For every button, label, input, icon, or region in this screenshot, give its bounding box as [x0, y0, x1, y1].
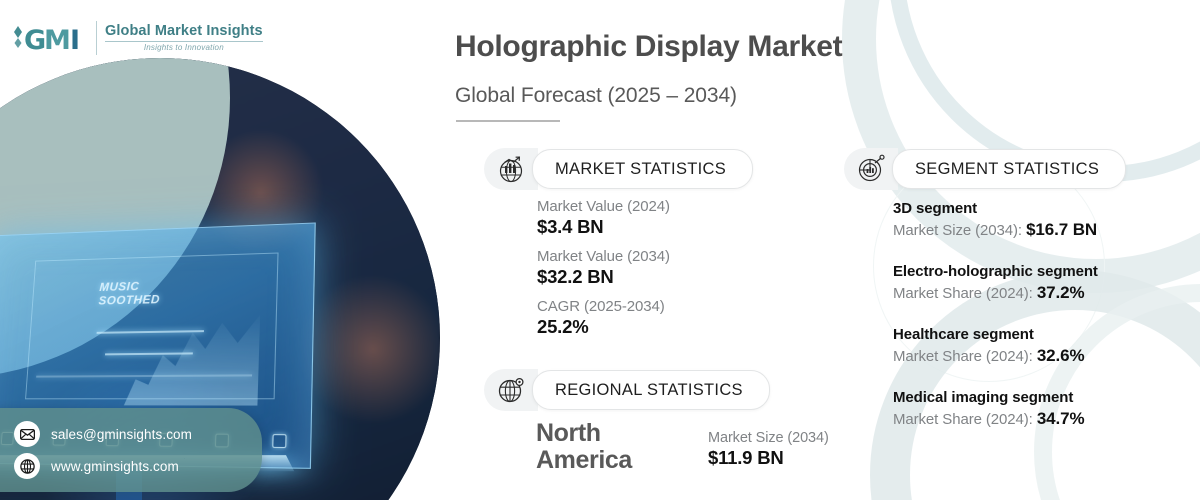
- segment-statistics-list: 3D segment Market Size (2034): $16.7 BN …: [893, 200, 1193, 452]
- logo-divider: [96, 21, 97, 55]
- market-stat-item: Market Value (2024) $3.4 BN: [537, 198, 670, 238]
- market-stat-label: Market Value (2034): [537, 248, 670, 265]
- contact-website-row[interactable]: www.gminsights.com: [0, 450, 262, 482]
- svg-text:G: G: [24, 25, 46, 56]
- region-metric: Market Size (2034) $11.9 BN: [708, 420, 829, 469]
- segment-name: Electro-holographic segment: [893, 263, 1193, 280]
- title-underline: [456, 120, 560, 122]
- segment-item: 3D segment Market Size (2034): $16.7 BN: [893, 200, 1193, 240]
- segment-item: Medical imaging segment Market Share (20…: [893, 389, 1193, 429]
- holo-app-icon: [272, 434, 286, 448]
- logo-rule: [105, 41, 263, 42]
- holo-screen-title: MUSIC SOOTHED: [98, 280, 161, 308]
- segment-item: Electro-holographic segment Market Share…: [893, 263, 1193, 303]
- section-header-regional-statistics: REGIONAL STATISTICS: [478, 369, 770, 411]
- svg-text:M: M: [44, 25, 71, 56]
- segment-metric-value: 34.7%: [1037, 409, 1085, 428]
- market-stat-item: Market Value (2034) $32.2 BN: [537, 248, 670, 288]
- market-stat-label: Market Value (2024): [537, 198, 670, 215]
- page-subtitle: Global Forecast (2025 – 2034): [455, 84, 737, 108]
- region-name-line-1: North: [536, 420, 676, 447]
- section-header-market-statistics: MARKET STATISTICS: [478, 148, 753, 190]
- market-statistics-label: MARKET STATISTICS: [532, 149, 753, 189]
- segment-metric: Market Share (2024): 32.6%: [893, 346, 1193, 366]
- gmi-wordmark-icon: G M I: [12, 20, 88, 56]
- segment-name: 3D segment: [893, 200, 1193, 217]
- segment-name: Medical imaging segment: [893, 389, 1193, 406]
- market-stat-label: CAGR (2025-2034): [537, 298, 670, 315]
- region-metric-label: Market Size (2034): [708, 430, 829, 446]
- market-stat-value: $32.2 BN: [537, 266, 670, 288]
- contact-email-row[interactable]: sales@gminsights.com: [0, 418, 262, 450]
- logo-tagline: Insights to Innovation: [105, 44, 263, 52]
- segment-metric-value: $16.7 BN: [1026, 220, 1097, 239]
- market-statistics-list: Market Value (2024) $3.4 BN Market Value…: [537, 198, 670, 348]
- segment-metric-value: 37.2%: [1037, 283, 1085, 302]
- segment-name: Healthcare segment: [893, 326, 1193, 343]
- region-name: North America: [536, 420, 676, 474]
- market-stat-item: CAGR (2025-2034) 25.2%: [537, 298, 670, 338]
- segment-metric-label: Market Size (2034):: [893, 222, 1022, 239]
- globe-bar-chart-icon: [484, 148, 538, 190]
- segment-metric-label: Market Share (2024):: [893, 285, 1033, 302]
- segment-statistics-label: SEGMENT STATISTICS: [892, 149, 1126, 189]
- infographic-canvas: MUSIC SOOTHED: [0, 0, 1200, 500]
- segment-metric: Market Share (2024): 34.7%: [893, 409, 1193, 429]
- contact-badge: sales@gminsights.com www.gminsights.com: [0, 408, 262, 492]
- regional-statistics-content: North America Market Size (2034) $11.9 B…: [536, 420, 829, 474]
- section-header-segment-statistics: SEGMENT STATISTICS: [838, 148, 1126, 190]
- envelope-icon: [14, 421, 40, 447]
- segment-metric-label: Market Share (2024):: [893, 411, 1033, 428]
- hero-image: MUSIC SOOTHED: [0, 0, 452, 500]
- donut-chart-target-icon: [844, 148, 898, 190]
- svg-text:I: I: [70, 25, 80, 56]
- logo-company-name: Global Market Insights: [105, 24, 263, 39]
- holo-title-line-2: SOOTHED: [98, 293, 160, 308]
- segment-item: Healthcare segment Market Share (2024): …: [893, 326, 1193, 366]
- market-stat-value: $3.4 BN: [537, 216, 670, 238]
- segment-metric-value: 32.6%: [1037, 346, 1085, 365]
- region-metric-value: $11.9 BN: [708, 447, 829, 469]
- contact-email-text: sales@gminsights.com: [51, 427, 192, 442]
- gmi-logo[interactable]: G M I Global Market Insights Insights to…: [12, 20, 263, 56]
- region-name-line-2: America: [536, 447, 676, 474]
- market-stat-value: 25.2%: [537, 316, 670, 338]
- segment-metric: Market Size (2034): $16.7 BN: [893, 220, 1193, 240]
- segment-metric: Market Share (2024): 37.2%: [893, 283, 1193, 303]
- logo-wordblock: Global Market Insights Insights to Innov…: [105, 24, 263, 53]
- segment-metric-label: Market Share (2024):: [893, 348, 1033, 365]
- regional-statistics-label: REGIONAL STATISTICS: [532, 370, 770, 410]
- contact-website-text: www.gminsights.com: [51, 459, 179, 474]
- globe-pin-icon: [484, 369, 538, 411]
- page-title: Holographic Display Market: [455, 30, 842, 64]
- globe-icon: [14, 453, 40, 479]
